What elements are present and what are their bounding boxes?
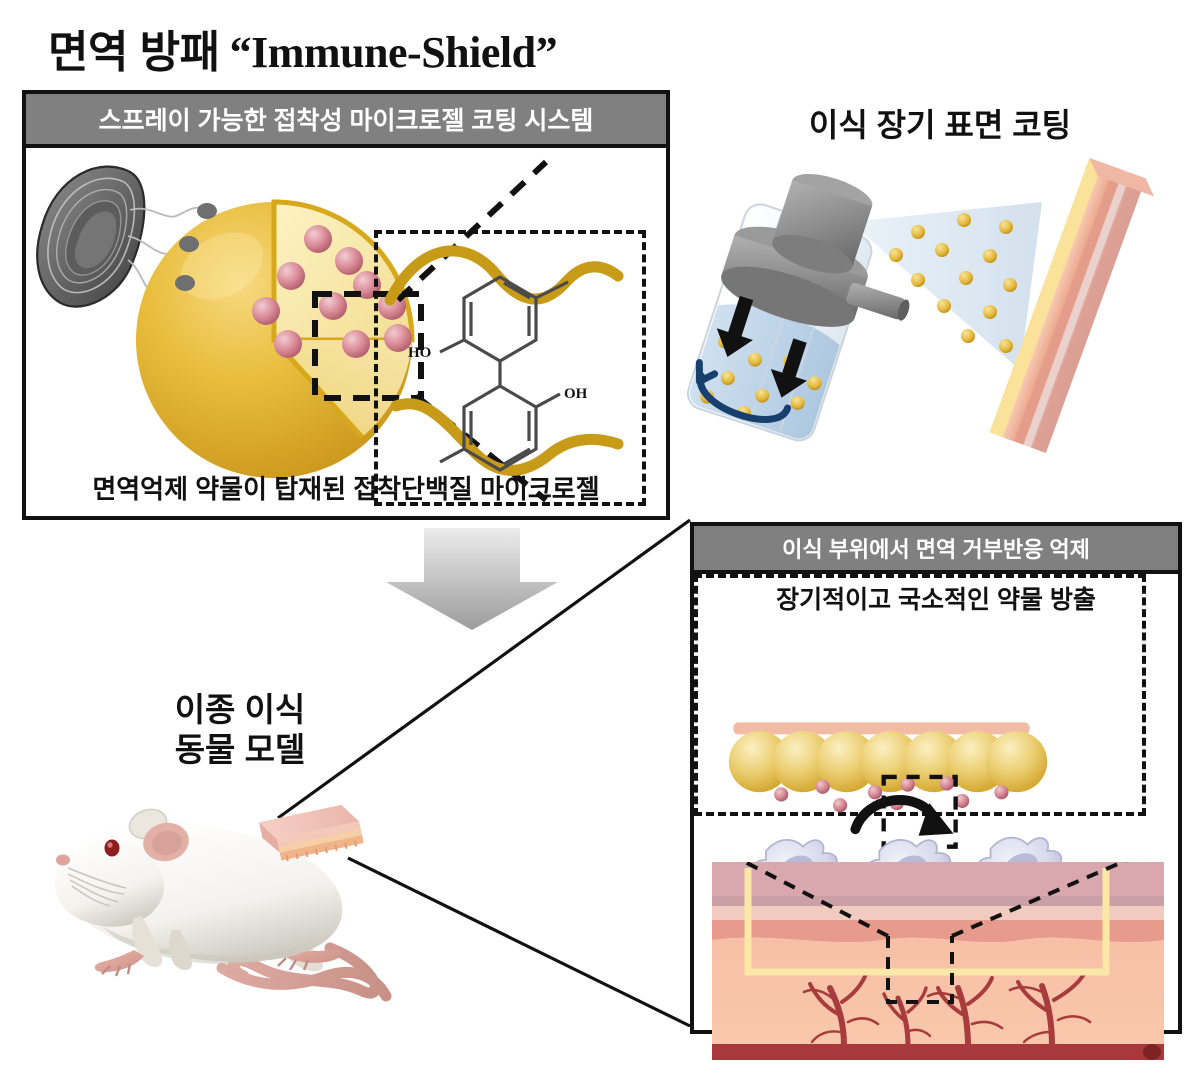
crosslink-chemistry: HO OH bbox=[378, 234, 642, 502]
tissue-layer-epidermis bbox=[712, 906, 1164, 920]
panel-immune-rejection: 이식 부위에서 면역 거부반응 억제 장기적이고 국소적인 약물 방출 bbox=[690, 522, 1182, 1034]
hydroxyl-label-ho: HO bbox=[408, 345, 431, 361]
mouse-nose bbox=[56, 855, 70, 866]
panel-microgel-header-label: 스프레이 가능한 접착성 마이크로젤 코팅 시스템 bbox=[99, 101, 594, 137]
panel-microgel-caption: 면역억제 약물이 탑재된 접착단백질 마이크로젤 bbox=[26, 469, 666, 506]
animal-model-label: 이종 이식 동물 모델 bbox=[105, 690, 375, 771]
panel-rejection-body: 장기적이고 국소적인 약물 방출 bbox=[694, 574, 1178, 1030]
panel-spray-header-label: 이식 장기 표면 코팅 bbox=[809, 107, 1071, 143]
process-down-arrow bbox=[382, 524, 562, 636]
spray-coating-illustration bbox=[690, 160, 1190, 500]
tissue-layers-illustration bbox=[712, 862, 1164, 1062]
panel-rejection-header-label: 이식 부위에서 면역 거부반응 억제 bbox=[782, 532, 1090, 564]
page-title: 면역 방패“Immune-Shield” bbox=[48, 16, 557, 80]
panel-microgel-system: 스프레이 가능한 접착성 마이크로젤 코팅 시스템 bbox=[22, 90, 670, 520]
drug-release-inset: 장기적이고 국소적인 약물 방출 bbox=[694, 574, 1146, 816]
tissue-cross-section bbox=[712, 862, 1164, 1062]
panel-microgel-body: HO OH 면역억제 약물이 탑재된 접착단백질 마이크로젤 bbox=[26, 148, 666, 516]
benzene-ring-upper bbox=[464, 277, 536, 361]
chemistry-inset-box: HO OH bbox=[374, 230, 646, 506]
page-title-english: “Immune-Shield” bbox=[230, 28, 557, 77]
panel-microgel-header: 스프레이 가능한 접착성 마이크로젤 코팅 시스템 bbox=[26, 94, 666, 148]
laboratory-mouse-illustration bbox=[30, 790, 420, 1060]
panel-spray-header: 이식 장기 표면 코팅 bbox=[700, 100, 1180, 146]
microgel-sphere bbox=[136, 202, 412, 478]
tissue-layer-muscle bbox=[712, 1044, 1164, 1060]
hydroxyl-label-oh: OH bbox=[564, 386, 588, 402]
figure-canvas: 면역 방패“Immune-Shield” 스프레이 가능한 접착성 마이크로젤 … bbox=[0, 0, 1200, 1068]
tissue-layer-outer bbox=[712, 862, 1164, 896]
immune-suppression-arrow bbox=[855, 800, 953, 836]
mouse-eye bbox=[105, 840, 120, 857]
panel-rejection-header: 이식 부위에서 면역 거부반응 억제 bbox=[694, 526, 1178, 574]
page-title-korean: 면역 방패 bbox=[48, 28, 220, 77]
microgel-monolayer bbox=[729, 731, 1047, 792]
